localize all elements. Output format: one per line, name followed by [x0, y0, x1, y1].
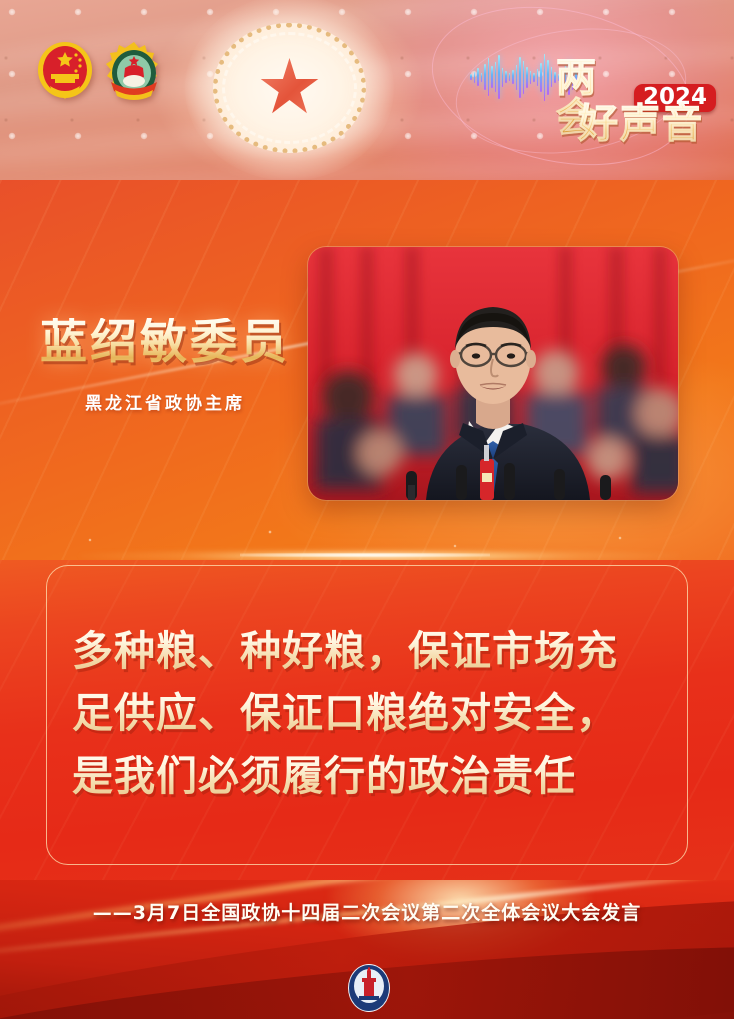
speaker-name-block: 蓝绍敏委员 黑龙江省政协主席	[0, 318, 330, 414]
national-emblem-of-china-icon	[36, 40, 94, 106]
quote-line-1: 多种粮、种好粮，保证市场充	[72, 620, 672, 682]
speaker-title: 黑龙江省政协主席	[0, 389, 330, 414]
brand-line2: 好声音	[578, 101, 704, 147]
quote-text: 多种粮、种好粮，保证市场充 足供应、保证口粮绝对安全， 是我们必须履行的政治责任	[72, 620, 672, 807]
brand-logo: 两会 2024 好声音	[556, 58, 716, 150]
quote-line-2: 足供应、保证口粮绝对安全，	[72, 682, 672, 744]
speaker-portrait	[308, 247, 678, 500]
light-flare-core	[240, 553, 490, 557]
speaker-name: 蓝绍敏委员	[0, 318, 330, 369]
source-caption: ——3月7日全国政协十四届二次会议第二次全体会议大会发言	[0, 898, 734, 925]
great-hall-ceiling-star-icon	[207, 17, 372, 159]
header-banner: 两会 2024 好声音	[0, 0, 734, 196]
media-outlet-logo-icon	[346, 958, 392, 1014]
poster-root: 两会 2024 好声音 蓝绍敏委员 黑龙江省政协主席	[0, 0, 734, 1019]
cppcc-emblem-icon	[103, 40, 165, 106]
quote-line-3: 是我们必须履行的政治责任	[72, 745, 672, 807]
